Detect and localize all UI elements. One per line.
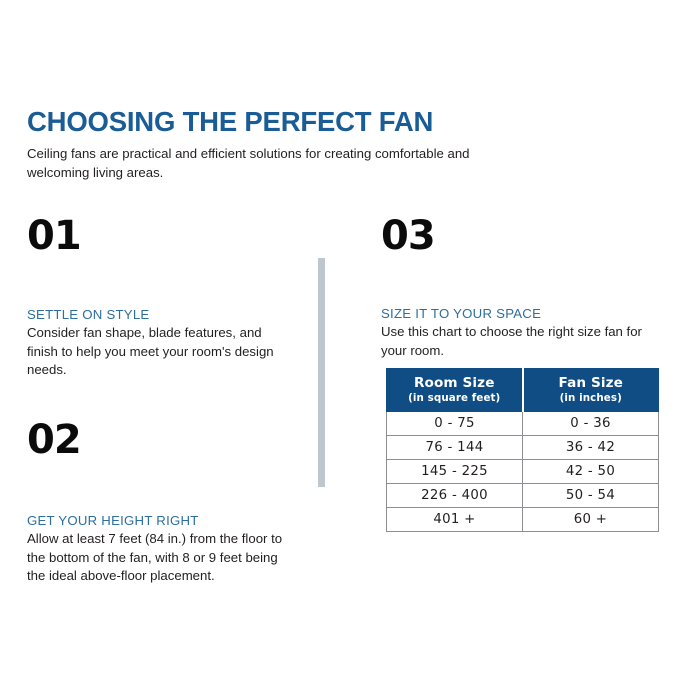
table-row: 226 - 400 50 - 54 xyxy=(387,484,659,508)
table-header-room-size-unit: (in square feet) xyxy=(389,392,520,404)
table-header-fan-size: Fan Size (in inches) xyxy=(523,369,659,412)
table-cell-room-size: 145 - 225 xyxy=(387,460,523,484)
fan-size-table: Room Size (in square feet) Fan Size (in … xyxy=(386,368,659,532)
table-header-room-size: Room Size (in square feet) xyxy=(387,369,523,412)
table-header-room-size-main: Room Size xyxy=(389,375,520,391)
step-number-01: 01 xyxy=(27,216,295,256)
column-divider xyxy=(318,258,325,487)
table-row: 0 - 75 0 - 36 xyxy=(387,412,659,436)
page-title: CHOOSING THE PERFECT FAN xyxy=(27,108,507,137)
table-head: Room Size (in square feet) Fan Size (in … xyxy=(387,369,659,412)
table-header-fan-size-main: Fan Size xyxy=(526,375,657,391)
table-header-row: Room Size (in square feet) Fan Size (in … xyxy=(387,369,659,412)
step-body-02: Allow at least 7 feet (84 in.) from the … xyxy=(27,530,295,586)
right-column: 03 SIZE IT TO YOUR SPACE Use this chart … xyxy=(381,216,671,360)
page-intro: Ceiling fans are practical and efficient… xyxy=(27,144,479,182)
left-column: 01 SETTLE ON STYLE Consider fan shape, b… xyxy=(27,216,295,586)
table-cell-room-size: 226 - 400 xyxy=(387,484,523,508)
infographic-page: CHOOSING THE PERFECT FAN Ceiling fans ar… xyxy=(0,0,700,700)
table-cell-room-size: 76 - 144 xyxy=(387,436,523,460)
step-subhead-02: GET YOUR HEIGHT RIGHT xyxy=(27,512,295,530)
step-subhead-01: SETTLE ON STYLE xyxy=(27,306,295,324)
table-body: 0 - 75 0 - 36 76 - 144 36 - 42 145 - 225… xyxy=(387,412,659,532)
step-number-03: 03 xyxy=(381,216,671,256)
table-cell-fan-size: 60 + xyxy=(523,508,659,532)
table-row: 76 - 144 36 - 42 xyxy=(387,436,659,460)
step-body-03: Use this chart to choose the right size … xyxy=(381,323,671,360)
step-number-02: 02 xyxy=(27,420,295,460)
table-cell-fan-size: 0 - 36 xyxy=(523,412,659,436)
table-row: 145 - 225 42 - 50 xyxy=(387,460,659,484)
step-block-01: 01 SETTLE ON STYLE Consider fan shape, b… xyxy=(27,216,295,380)
table-cell-room-size: 0 - 75 xyxy=(387,412,523,436)
table-cell-fan-size: 42 - 50 xyxy=(523,460,659,484)
table-row: 401 + 60 + xyxy=(387,508,659,532)
step-block-02: 02 GET YOUR HEIGHT RIGHT Allow at least … xyxy=(27,420,295,586)
step-block-03: 03 SIZE IT TO YOUR SPACE Use this chart … xyxy=(381,216,671,360)
table-cell-fan-size: 36 - 42 xyxy=(523,436,659,460)
step-body-01: Consider fan shape, blade features, and … xyxy=(27,324,295,380)
table-cell-fan-size: 50 - 54 xyxy=(523,484,659,508)
table-cell-room-size: 401 + xyxy=(387,508,523,532)
page-header: CHOOSING THE PERFECT FAN Ceiling fans ar… xyxy=(27,108,507,182)
step-subhead-03: SIZE IT TO YOUR SPACE xyxy=(381,305,671,323)
table-header-fan-size-unit: (in inches) xyxy=(526,392,657,404)
